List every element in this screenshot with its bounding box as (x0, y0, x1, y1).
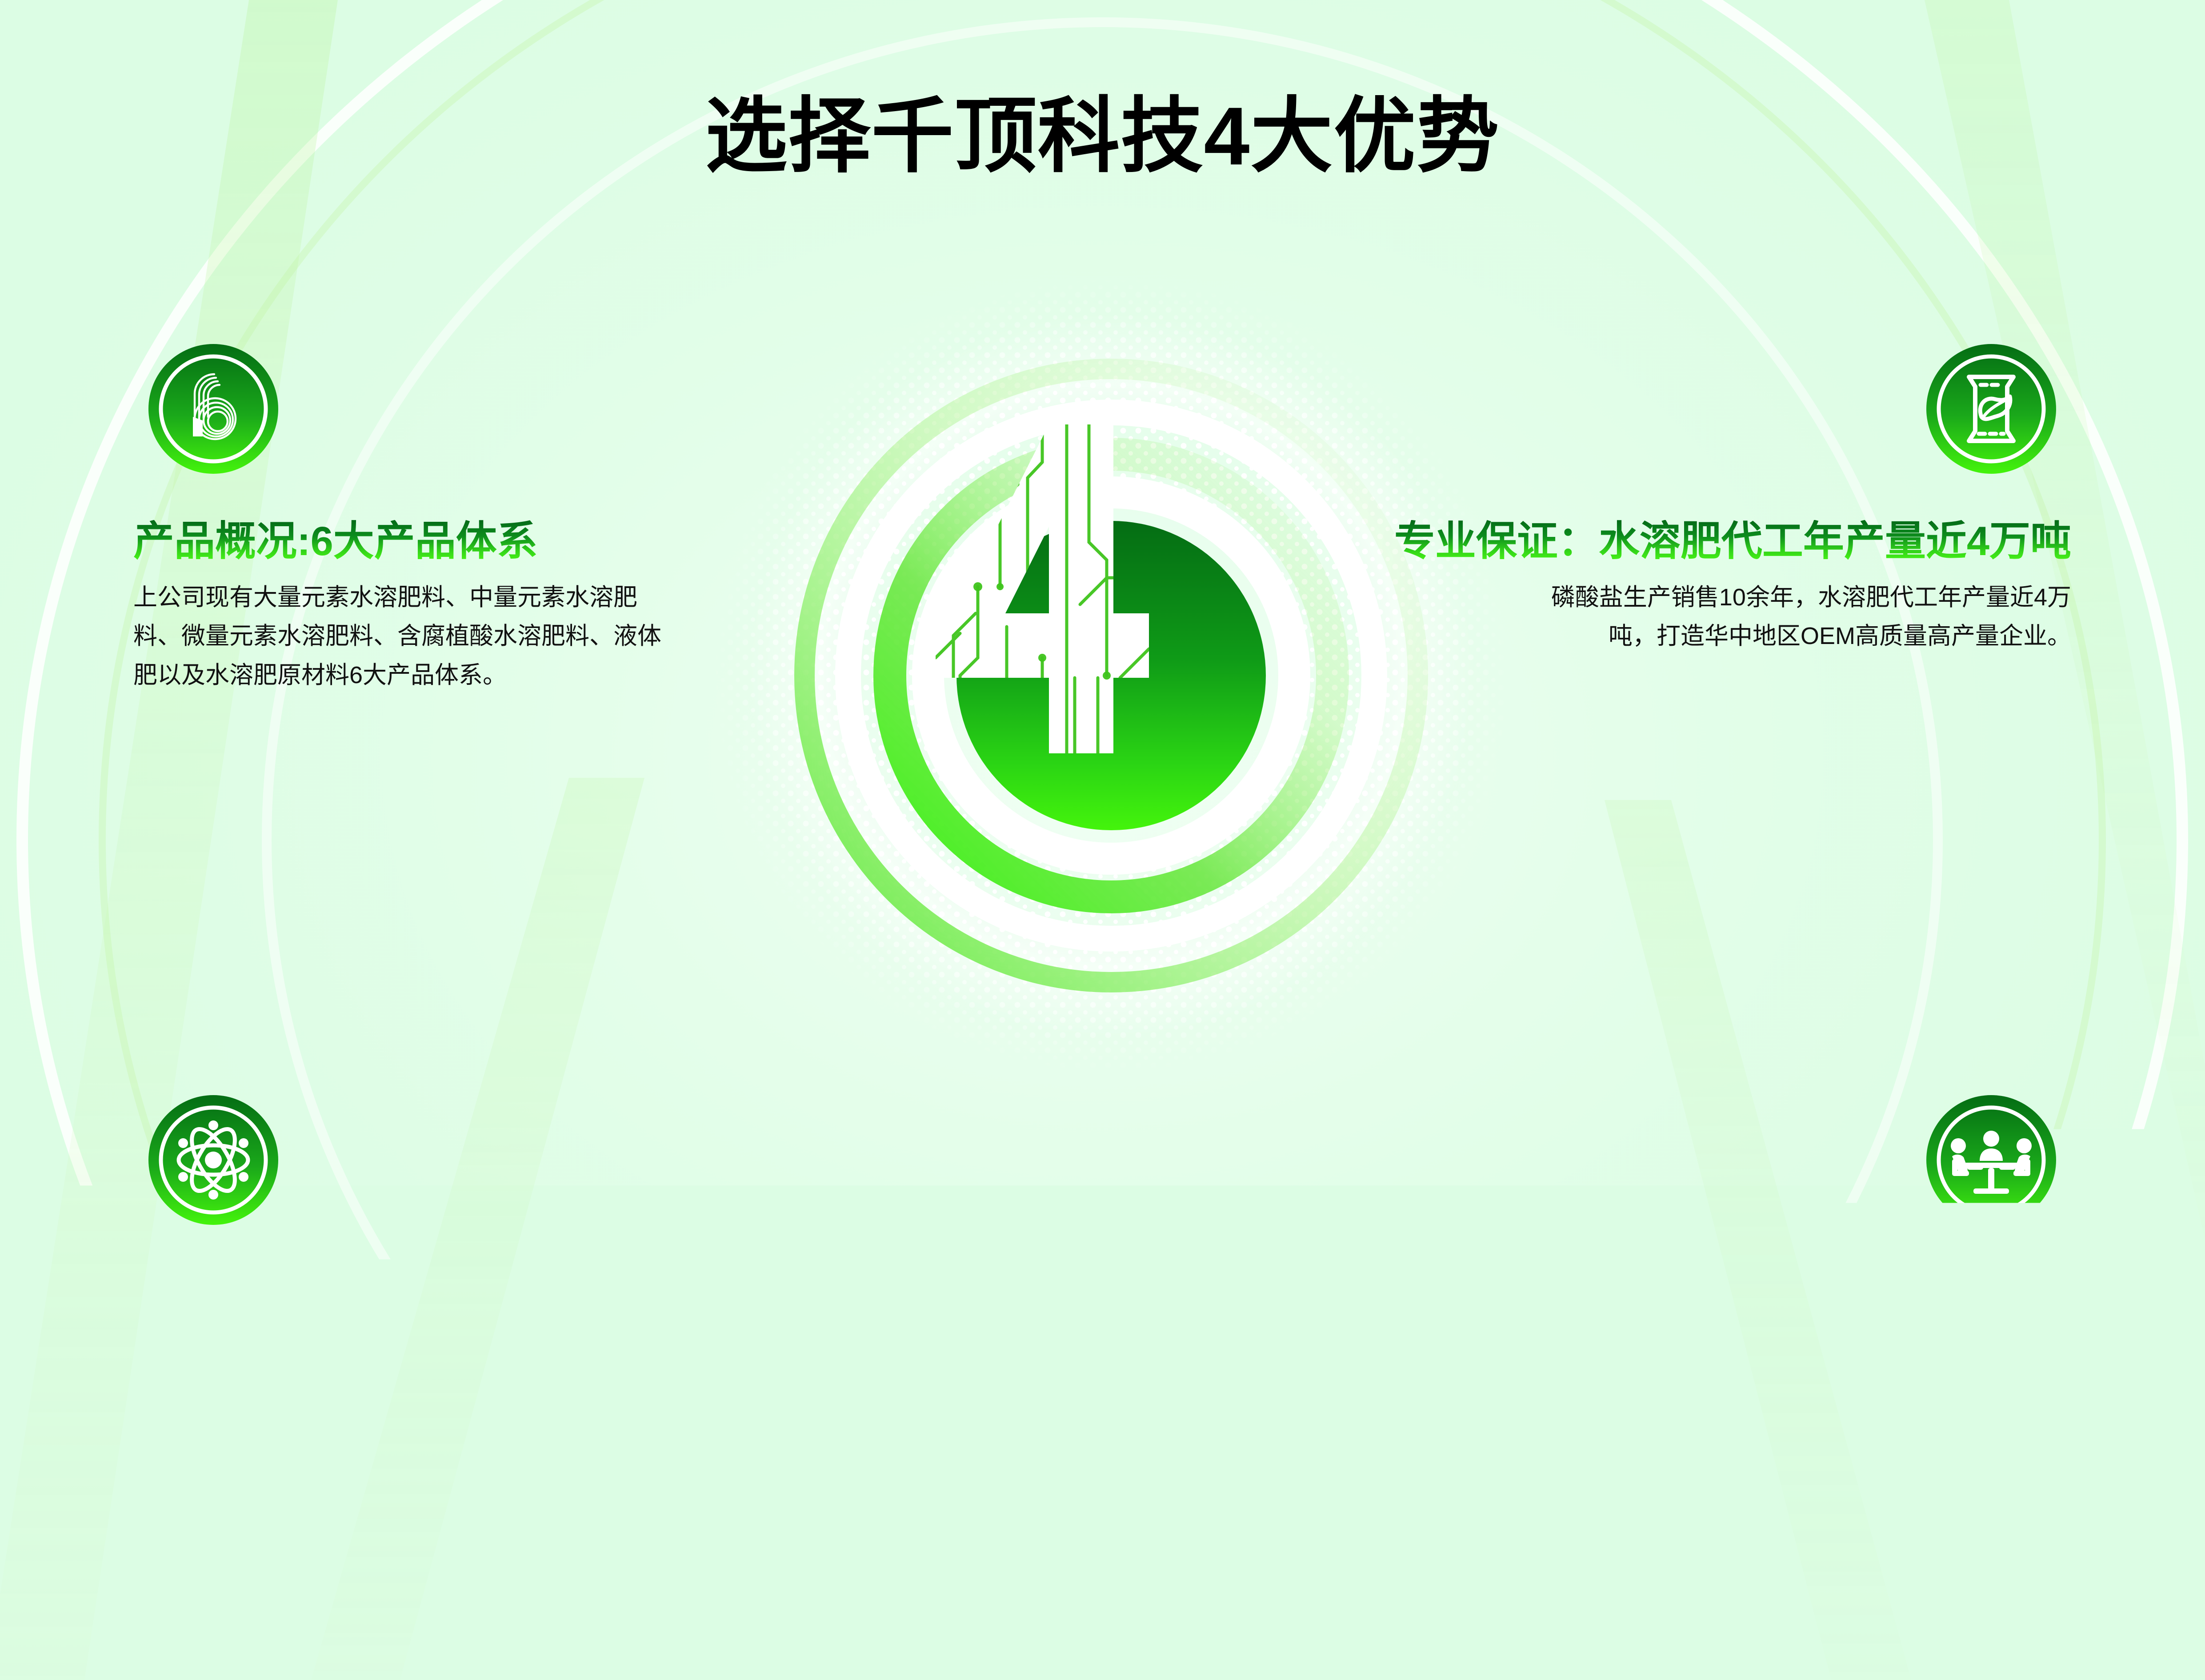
feature-body: 高新技术，国内创新工艺膨化水溶肥，国内先进的产品研发实验室，现已拥有多项国家发明… (133, 1329, 884, 1407)
fertilizer-bag-icon[interactable] (1925, 342, 2058, 476)
feature-heading: 先进工艺：多项国家发明专利 (133, 1271, 889, 1314)
feature-heading: 高效服务：你提想法，我拿方案 (1316, 1271, 2071, 1314)
feature-heading: 产品概况:6大产品体系 (133, 520, 711, 563)
feature-body: 你提想法，我拿方案，玛蒂司给您省时省力致力于为客户朋友提供从包装到原料，从生产加… (1373, 1329, 2071, 1407)
feature-block-top-right: 专业保证：水溶肥代工年产量近4万吨 磷酸盐生产销售10余年，水溶肥代工年产量近4… (1191, 342, 2071, 656)
feature-block-top-left: 产品概况:6大产品体系 上公司现有大量元素水溶肥料、中量元素水溶肥料、微量元素水… (133, 342, 711, 695)
atom-icon[interactable] (147, 1093, 280, 1227)
number-six-rings-icon[interactable] (147, 342, 280, 476)
page-title: 选择千顶科技4大优势 (0, 96, 2205, 178)
infographic-stage: 选择千顶科技4大优势 (0, 0, 2205, 1680)
feature-body: 上公司现有大量元素水溶肥料、中量元素水溶肥料、微量元素水溶肥料、含腐植酸水溶肥料… (133, 578, 684, 695)
feature-block-bottom-right: 高效服务：你提想法，我拿方案 你提想法，我拿方案，玛蒂司给您省时省力致力于为客户… (1316, 1093, 2071, 1407)
feature-block-bottom-left: 先进工艺：多项国家发明专利 高新技术，国内创新工艺膨化水溶肥，国内先进的产品研发… (133, 1093, 889, 1407)
feature-body: 磷酸盐生产销售10余年，水溶肥代工年产量近4万吨，打造华中地区OEM高质量高产量… (1525, 578, 2071, 656)
meeting-people-icon[interactable] (1925, 1093, 2058, 1227)
feature-heading: 专业保证：水溶肥代工年产量近4万吨 (1191, 520, 2071, 563)
